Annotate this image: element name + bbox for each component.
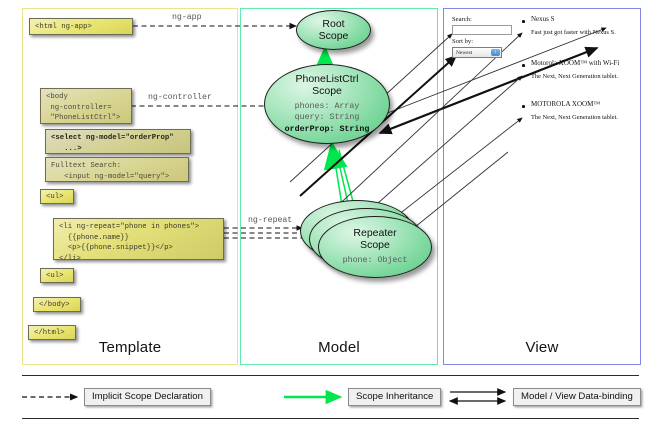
view-phone-item[interactable]: Motorola XOOM™ with Wi-Fi The Next, Next… bbox=[531, 59, 619, 80]
view-phone-snippet: The Next, Next Generation tablet. bbox=[531, 114, 618, 121]
view-list-bullet bbox=[522, 64, 525, 67]
scope-prop-orderprop: orderProp: String bbox=[285, 125, 370, 134]
view-phone-name: Motorola XOOM™ with Wi-Fi bbox=[531, 59, 619, 67]
view-phone-item[interactable]: Nexus S Fast just got faster with Nexus … bbox=[531, 15, 616, 36]
edge-ng-repeat bbox=[224, 228, 310, 238]
code-html-open: <html ng-app> bbox=[29, 18, 133, 35]
scope-phonelistctrl-title-2: Scope bbox=[312, 85, 342, 97]
view-phone-item[interactable]: MOTOROLA XOOM™ The Next, Next Generation… bbox=[531, 100, 618, 121]
scope-repeater-title-2: Scope bbox=[360, 239, 390, 251]
scope-repeater-title-1: Repeater bbox=[353, 227, 396, 239]
legend-item-implicit-scope-declaration: Implicit Scope Declaration bbox=[84, 388, 211, 406]
edge-label-ng-app: ng-app bbox=[172, 13, 201, 22]
scope-repeater: Repeater Scope phone: Object bbox=[318, 216, 432, 278]
scope-prop-phone: phone: Object bbox=[343, 255, 408, 266]
view-list-bullet bbox=[522, 105, 525, 108]
view-phone-snippet: The Next, Next Generation tablet. bbox=[531, 73, 619, 80]
view-sort-selected-value: Newest bbox=[456, 50, 472, 56]
view-search-label: Search: bbox=[452, 16, 472, 23]
scope-root-title-1: Root bbox=[322, 18, 344, 30]
view-list-bullet bbox=[522, 20, 525, 23]
code-search-input: Fulltext Search: <input ng-model="query"… bbox=[45, 157, 189, 182]
code-html-close: </html> bbox=[28, 325, 76, 340]
view-phone-name: MOTOROLA XOOM™ bbox=[531, 100, 618, 108]
view-search-input[interactable] bbox=[452, 25, 512, 35]
legend-item-data-binding: Model / View Data-binding bbox=[513, 388, 641, 406]
edge-label-ng-repeat: ng-repeat bbox=[248, 216, 292, 225]
code-li-repeat: <li ng-repeat="phone in phones"> {{phone… bbox=[53, 218, 224, 260]
scope-phonelistctrl-title-1: PhoneListCtrl bbox=[295, 73, 358, 85]
code-select: <select ng-model="orderProp" ...> bbox=[45, 129, 191, 154]
view-phone-snippet: Fast just got faster with Nexus S. bbox=[531, 29, 616, 36]
scope-prop-phones: phones: Array bbox=[285, 101, 370, 112]
scope-prop-query: query: String bbox=[285, 112, 370, 123]
view-sort-label: Sort by: bbox=[452, 38, 473, 45]
scope-phonelistctrl: PhoneListCtrl Scope phones: Array query:… bbox=[264, 64, 390, 144]
diagram-canvas: Template Model View bbox=[0, 0, 661, 425]
code-body-close: </body> bbox=[33, 297, 81, 312]
view-phone-name: Nexus S bbox=[531, 15, 616, 23]
legend-item-scope-inheritance: Scope Inheritance bbox=[348, 388, 441, 406]
code-body-open: <body ng-controller= "PhoneListCtrl"> bbox=[40, 88, 132, 124]
edge-label-ng-controller: ng-controller bbox=[148, 93, 212, 102]
code-ul-open: <ul> bbox=[40, 189, 74, 204]
scope-root-title-2: Scope bbox=[319, 30, 349, 42]
chevron-updown-icon: ↕ bbox=[491, 49, 500, 56]
scope-root: Root Scope bbox=[296, 10, 371, 50]
legend: Implicit Scope Declaration Scope Inherit… bbox=[22, 375, 639, 419]
code-ul-close: <ul> bbox=[40, 268, 74, 283]
view-sort-select[interactable]: Newest ↕ bbox=[452, 47, 502, 58]
